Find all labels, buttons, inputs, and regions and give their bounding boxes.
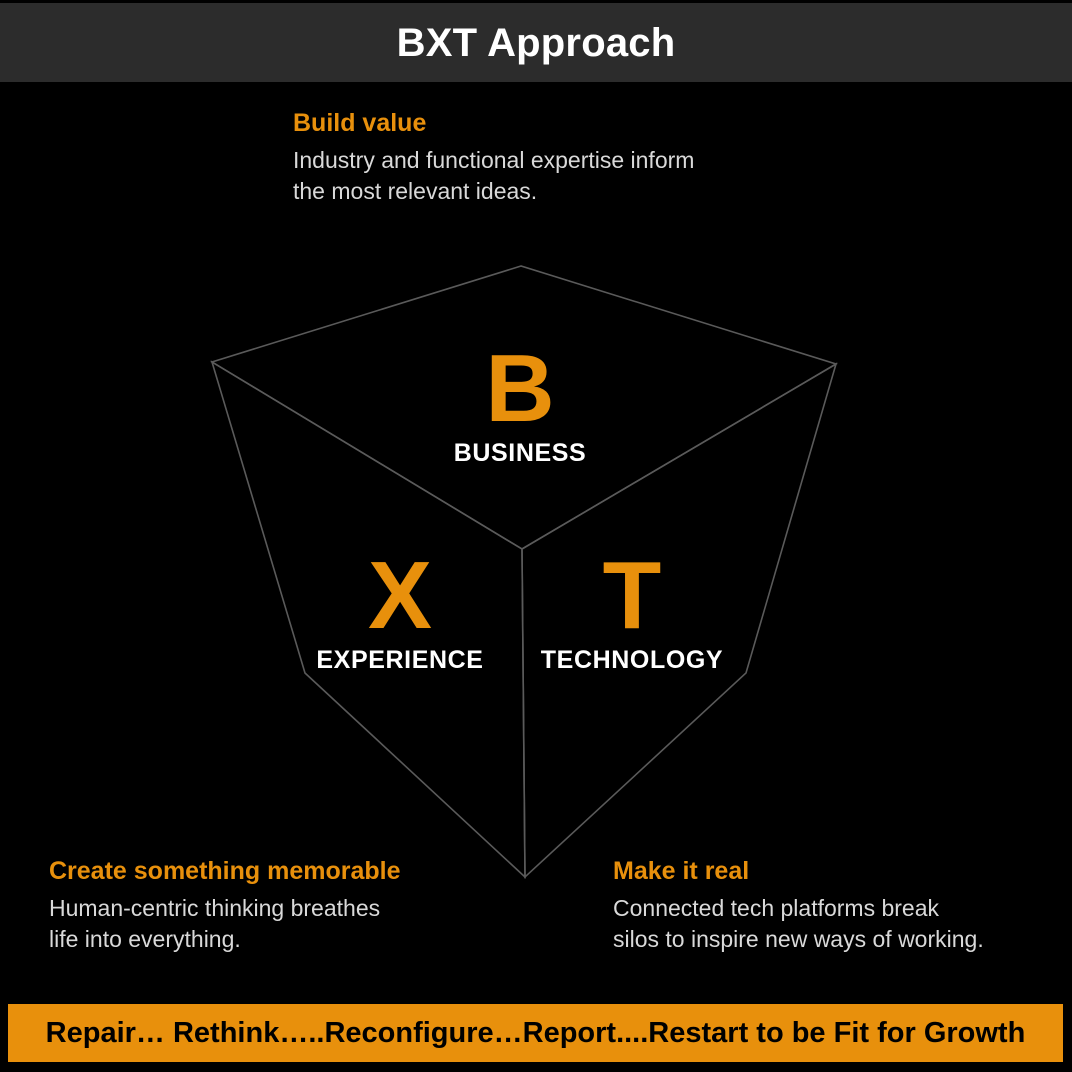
header-bar: BXT Approach — [0, 3, 1072, 82]
bottom-banner-text: Repair… Rethink…..Reconfigure…Report....… — [46, 1019, 1026, 1048]
cube-letter-x: X — [280, 552, 520, 640]
cube-face-top — [212, 266, 836, 549]
cube-word-business: BUSINESS — [400, 441, 640, 466]
cube-face-left — [212, 362, 525, 877]
callout-create-something-memorable: Create something memorable Human-centric… — [49, 858, 519, 955]
cube-face-label-technology: T TECHNOLOGY — [512, 552, 752, 673]
page-title: BXT Approach — [397, 23, 676, 63]
callout-build-value: Build value Industry and functional expe… — [293, 110, 763, 207]
cube-word-experience: EXPERIENCE — [280, 648, 520, 673]
cube-face-right — [522, 364, 836, 877]
callout-build-value-body: Industry and functional expertise inform… — [293, 145, 763, 207]
callout-build-value-heading: Build value — [293, 110, 763, 136]
callout-make-heading: Make it real — [613, 858, 1053, 884]
cube-face-label-business: B BUSINESS — [400, 345, 640, 466]
callout-make-body: Connected tech platforms break silos to … — [613, 893, 1053, 955]
cube-face-label-experience: X EXPERIENCE — [280, 552, 520, 673]
cube-word-technology: TECHNOLOGY — [512, 648, 752, 673]
callout-create-body: Human-centric thinking breathes life int… — [49, 893, 519, 955]
callout-make-it-real: Make it real Connected tech platforms br… — [613, 858, 1053, 955]
callout-create-heading: Create something memorable — [49, 858, 519, 884]
slide-canvas: BXT Approach Build value Industry and fu… — [0, 0, 1072, 1072]
bottom-banner: Repair… Rethink…..Reconfigure…Report....… — [8, 1004, 1063, 1062]
cube-letter-b: B — [400, 345, 640, 433]
cube-letter-t: T — [512, 552, 752, 640]
